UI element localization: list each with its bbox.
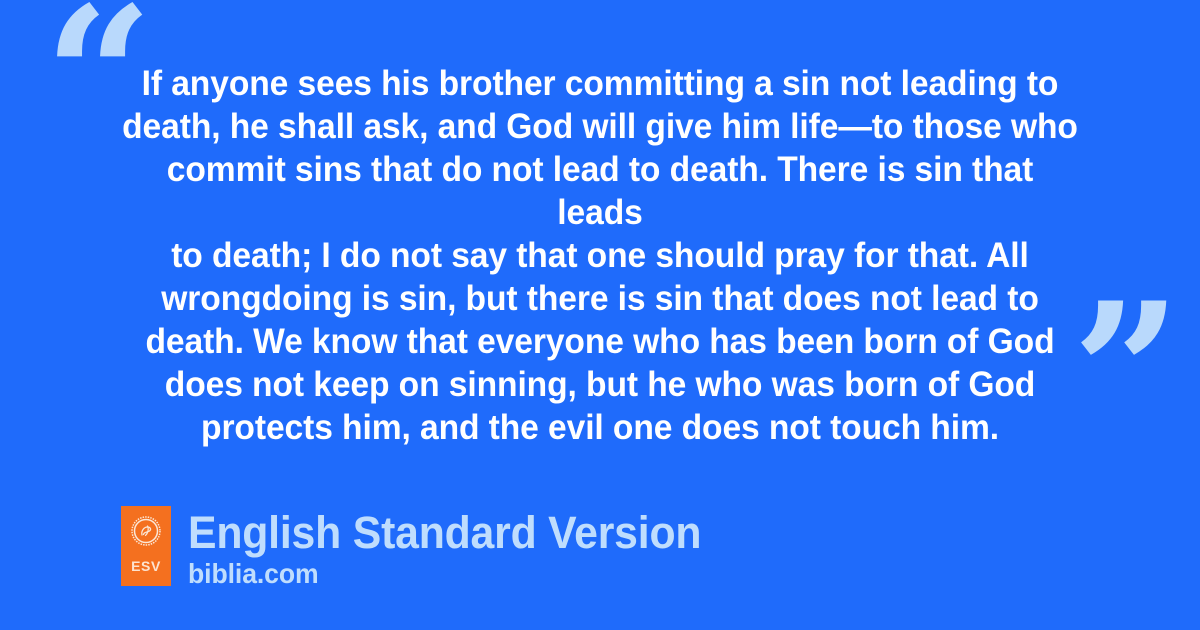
- quote-block: If anyone sees his brother committing a …: [100, 62, 1100, 449]
- closing-quote-icon: ”: [1072, 278, 1181, 468]
- bible-version-name: English Standard Version: [188, 510, 701, 556]
- attribution[interactable]: ESV English Standard Version biblia.com: [121, 506, 728, 589]
- attribution-text: English Standard Version biblia.com: [188, 506, 728, 589]
- quote-text: If anyone sees his brother committing a …: [120, 62, 1080, 449]
- site-url[interactable]: biblia.com: [188, 559, 701, 589]
- esv-logo[interactable]: ESV: [121, 506, 171, 586]
- quote-card: “ If anyone sees his brother committing …: [0, 0, 1200, 630]
- esv-seal-icon: [131, 516, 161, 546]
- esv-logo-label: ESV: [121, 559, 171, 573]
